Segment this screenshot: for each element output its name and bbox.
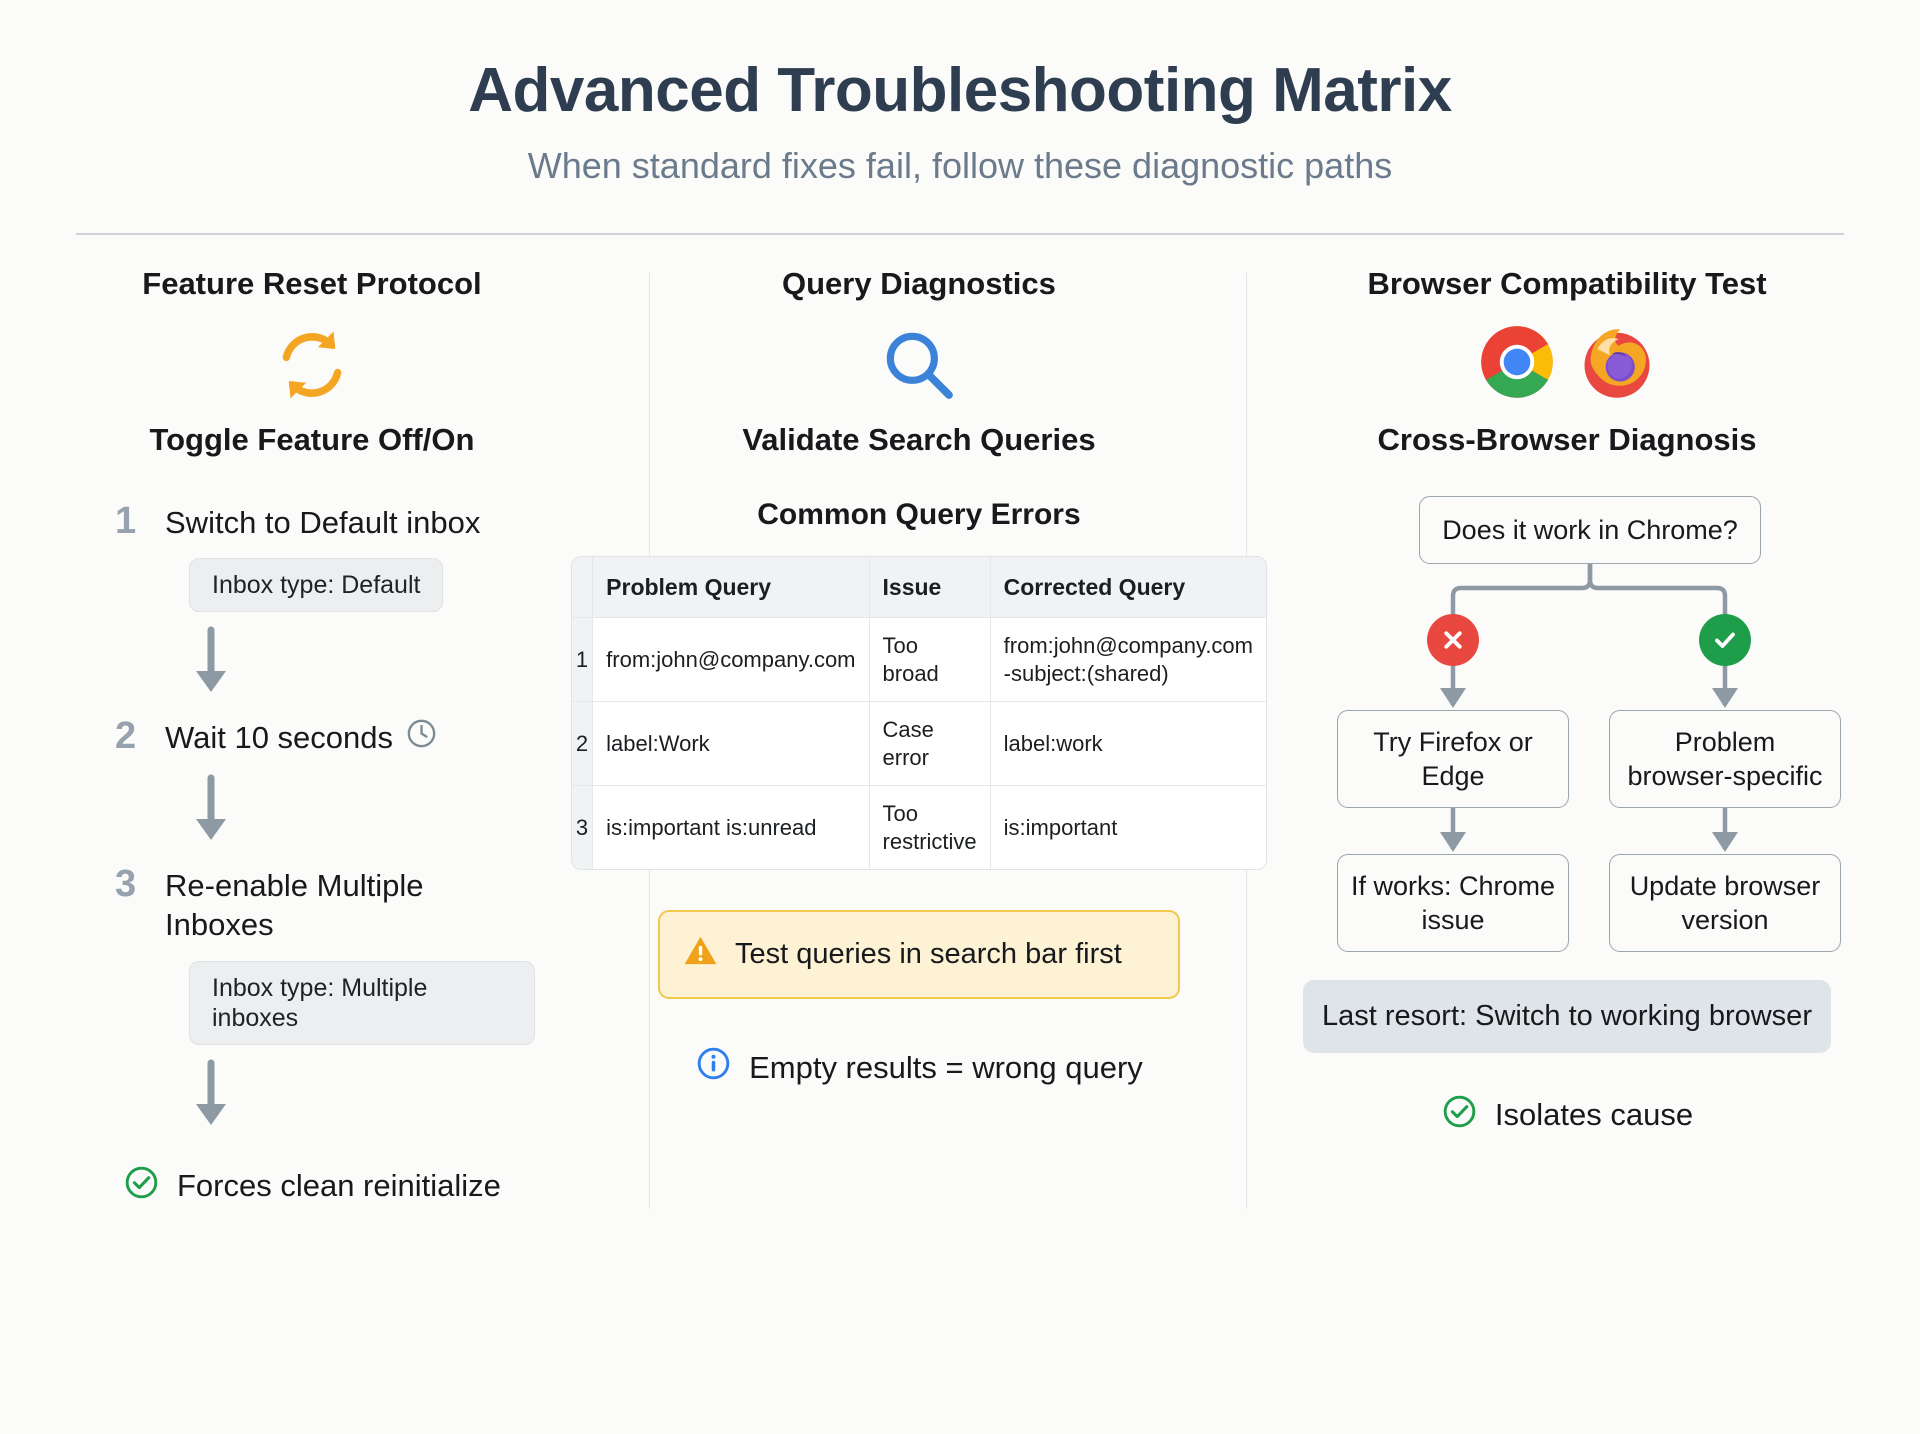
firefox-logo-icon (1578, 323, 1656, 406)
cell-corrected-query: from:john@company.com -subject:(shared) (991, 618, 1266, 702)
outcome-row-2: Empty results = wrong query (571, 1045, 1267, 1090)
check-mark-icon (1699, 614, 1751, 666)
cell-index: 1 (572, 618, 593, 702)
column-subtitle-3: Cross-Browser Diagnosis (1303, 421, 1831, 458)
warning-triangle-icon (682, 932, 719, 977)
page-header: Advanced Troubleshooting Matrix When sta… (0, 0, 1920, 235)
step-number: 2 (115, 717, 143, 755)
table-row: 2 label:Work Case error label:work (572, 702, 1266, 786)
flow-box-browser-specific: Problem browser-specific (1609, 710, 1841, 808)
step-text: Wait 10 seconds (165, 719, 393, 758)
flow-box-update-browser: Update browser version (1609, 854, 1841, 952)
step-item: 1 Switch to Default inbox Inbox type: De… (115, 502, 535, 613)
cell-problem-query: label:Work (593, 702, 869, 786)
check-circle-icon (123, 1164, 160, 1209)
troubleshooting-matrix-page: Advanced Troubleshooting Matrix When sta… (0, 0, 1920, 1434)
table-header-row: Problem Query Issue Corrected Query (572, 557, 1266, 619)
chrome-logo-icon (1478, 323, 1556, 406)
query-errors-table: Problem Query Issue Corrected Query 1 fr… (571, 556, 1267, 871)
column-title-1: Feature Reset Protocol (89, 265, 535, 302)
step-text: Switch to Default inbox (165, 504, 480, 543)
flow-box-chrome-issue: If works: Chrome issue (1337, 854, 1569, 952)
clock-icon (405, 717, 438, 760)
column-header-problem-query: Problem Query (593, 557, 869, 619)
outcome-text: Forces clean reinitialize (177, 1168, 501, 1204)
x-mark-icon (1427, 614, 1479, 666)
browser-logos-row (1303, 315, 1831, 415)
outcome-row-3: Isolates cause (1303, 1093, 1831, 1138)
cell-issue: Too broad (870, 618, 991, 702)
browser-flowchart: Does it work in Chrome? Try Firefox or E… (1303, 496, 1831, 952)
step-text: Re-enable Multiple Inboxes (165, 867, 535, 945)
arrow-down-icon (189, 626, 535, 703)
flow-root-question: Does it work in Chrome? (1419, 496, 1761, 564)
column-browser-compatibility: Browser Compatibility Test (1285, 235, 1849, 1208)
check-circle-icon (1441, 1093, 1478, 1138)
column-title-3: Browser Compatibility Test (1303, 265, 1831, 302)
cell-problem-query: from:john@company.com (593, 618, 869, 702)
column-subtitle-2: Validate Search Queries (571, 421, 1267, 458)
column-header-corrected-query: Corrected Query (991, 557, 1266, 619)
page-subtitle: When standard fixes fail, follow these d… (0, 145, 1920, 186)
table-row: 3 is:important is:unread Too restrictive… (572, 786, 1266, 869)
column-query-diagnostics: Query Diagnostics Validate Search Querie… (553, 235, 1285, 1208)
step-item: 3 Re-enable Multiple Inboxes Inbox type:… (115, 865, 535, 1045)
cell-problem-query: is:important is:unread (593, 786, 869, 869)
cell-index: 2 (572, 702, 593, 786)
flow-box-try-firefox-edge: Try Firefox or Edge (1337, 710, 1569, 808)
column-title-2: Query Diagnostics (571, 265, 1267, 302)
column-subtitle-1: Toggle Feature Off/On (89, 421, 535, 458)
column-header-issue: Issue (870, 557, 991, 619)
info-circle-icon (695, 1045, 732, 1090)
warning-banner: Test queries in search bar first (658, 910, 1180, 999)
arrow-down-icon (189, 1059, 535, 1136)
cell-issue: Case error (870, 702, 991, 786)
cell-corrected-query: label:work (991, 702, 1266, 786)
table-heading: Common Query Errors (571, 498, 1267, 532)
page-title: Advanced Troubleshooting Matrix (0, 58, 1920, 125)
outcome-text: Isolates cause (1495, 1097, 1693, 1133)
cell-corrected-query: is:important (991, 786, 1266, 869)
cell-issue: Too restrictive (870, 786, 991, 869)
table-row: 1 from:john@company.com Too broad from:j… (572, 618, 1266, 702)
step-number: 3 (115, 865, 143, 903)
step-item: 2 Wait 10 seconds (115, 717, 535, 760)
cell-index: 3 (572, 786, 593, 869)
outcome-row-1: Forces clean reinitialize (89, 1164, 535, 1209)
arrow-down-icon (189, 774, 535, 851)
inbox-type-chip: Inbox type: Default (189, 558, 443, 612)
search-icon (571, 315, 1267, 415)
columns-container: Feature Reset Protocol Toggle Feature Of… (65, 235, 1855, 1208)
column-feature-reset: Feature Reset Protocol Toggle Feature Of… (71, 235, 553, 1208)
outcome-text: Empty results = wrong query (749, 1050, 1143, 1086)
warning-text: Test queries in search bar first (735, 938, 1122, 971)
column-header-index (572, 557, 593, 619)
step-number: 1 (115, 502, 143, 540)
last-resort-banner: Last resort: Switch to working browser (1303, 980, 1831, 1053)
refresh-icon (89, 315, 535, 415)
steps-list: 1 Switch to Default inbox Inbox type: De… (89, 502, 535, 1136)
inbox-type-chip: Inbox type: Multiple inboxes (189, 961, 535, 1045)
